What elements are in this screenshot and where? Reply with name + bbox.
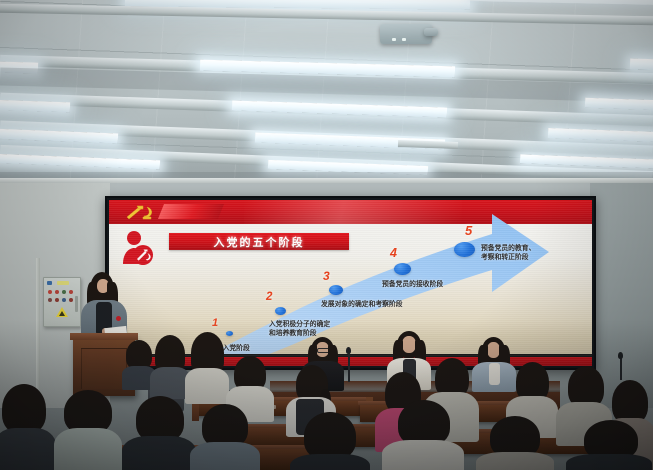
lecture-hall-photo: 入党的五个阶段 1申请入党阶段2入党积极分子的确定 和培养教育阶段3发展对象的确… bbox=[0, 0, 653, 470]
stage-label-3: 发展对象的确定和考察阶段 bbox=[321, 300, 446, 309]
wall-conduit bbox=[36, 258, 40, 390]
projector-indicator-icon bbox=[402, 38, 406, 41]
projector-indicator-icon bbox=[392, 38, 396, 41]
electrical-control-panel[interactable] bbox=[43, 277, 81, 327]
audience-member bbox=[150, 335, 190, 395]
stage-number-2: 2 bbox=[266, 292, 272, 304]
audience-member bbox=[54, 390, 122, 470]
audience-top bbox=[290, 454, 370, 470]
indicator-lamp-icon bbox=[55, 290, 59, 294]
podium-top-surface bbox=[70, 333, 138, 340]
microphone-head-icon bbox=[618, 352, 623, 359]
audience-member bbox=[190, 404, 260, 470]
microphone-head-icon bbox=[346, 347, 351, 354]
stage-dot-2 bbox=[275, 307, 286, 315]
indicator-lamp-icon bbox=[69, 290, 73, 294]
projector-mount bbox=[424, 28, 438, 36]
push-button-icon bbox=[48, 298, 52, 302]
stage-dot-3 bbox=[329, 285, 343, 295]
push-button-icon bbox=[62, 298, 66, 302]
audience-top bbox=[150, 367, 190, 399]
indicator-lamp-icon bbox=[62, 290, 66, 294]
stage-dot-5 bbox=[454, 242, 475, 257]
panelist-inner-top bbox=[489, 363, 500, 385]
audience-top bbox=[476, 452, 554, 470]
stage-label-2: 入党积极分子的确定 和培养教育阶段 bbox=[269, 320, 367, 338]
audience-top bbox=[0, 428, 56, 470]
stage-number-3: 3 bbox=[323, 270, 330, 282]
stage-number-5: 5 bbox=[465, 224, 472, 237]
audience-top bbox=[122, 436, 196, 470]
stage-number-1: 1 bbox=[212, 318, 218, 329]
presenter-badge bbox=[116, 316, 121, 321]
panelist-face bbox=[402, 336, 416, 353]
push-button-icon bbox=[69, 298, 73, 302]
audience-member bbox=[566, 420, 652, 470]
panel-indicator-row bbox=[48, 290, 73, 294]
audience-hair bbox=[304, 412, 356, 460]
wall-ceiling-trim bbox=[0, 178, 653, 183]
podium-front-panel bbox=[81, 348, 127, 390]
audience-top bbox=[382, 440, 464, 470]
audience-member bbox=[0, 384, 56, 470]
indicator-lamp-icon bbox=[48, 290, 52, 294]
audience-top bbox=[566, 454, 652, 470]
stage-dot-4 bbox=[394, 263, 411, 275]
audience-member bbox=[185, 332, 229, 400]
audience-hair bbox=[2, 384, 46, 434]
audience-member bbox=[122, 396, 196, 470]
push-button-icon bbox=[55, 298, 59, 302]
high-voltage-warning-triangle-icon bbox=[56, 307, 68, 317]
ceiling-light-tube bbox=[630, 59, 653, 71]
panel-switch-row[interactable] bbox=[48, 298, 73, 302]
gooseneck-microphone bbox=[348, 352, 350, 382]
audience-member bbox=[476, 416, 554, 470]
audience-member bbox=[290, 412, 370, 470]
audience-top bbox=[190, 442, 260, 470]
audience-top bbox=[54, 428, 122, 470]
gooseneck-microphone bbox=[620, 356, 622, 380]
audience-member bbox=[382, 400, 464, 470]
ceiling bbox=[0, 0, 653, 186]
stage-number-4: 4 bbox=[390, 247, 397, 260]
stage-label-4: 预备党员的接收阶段 bbox=[382, 280, 492, 289]
stage-label-5: 预备党员的教育、 考察和转正阶段 bbox=[481, 244, 576, 262]
